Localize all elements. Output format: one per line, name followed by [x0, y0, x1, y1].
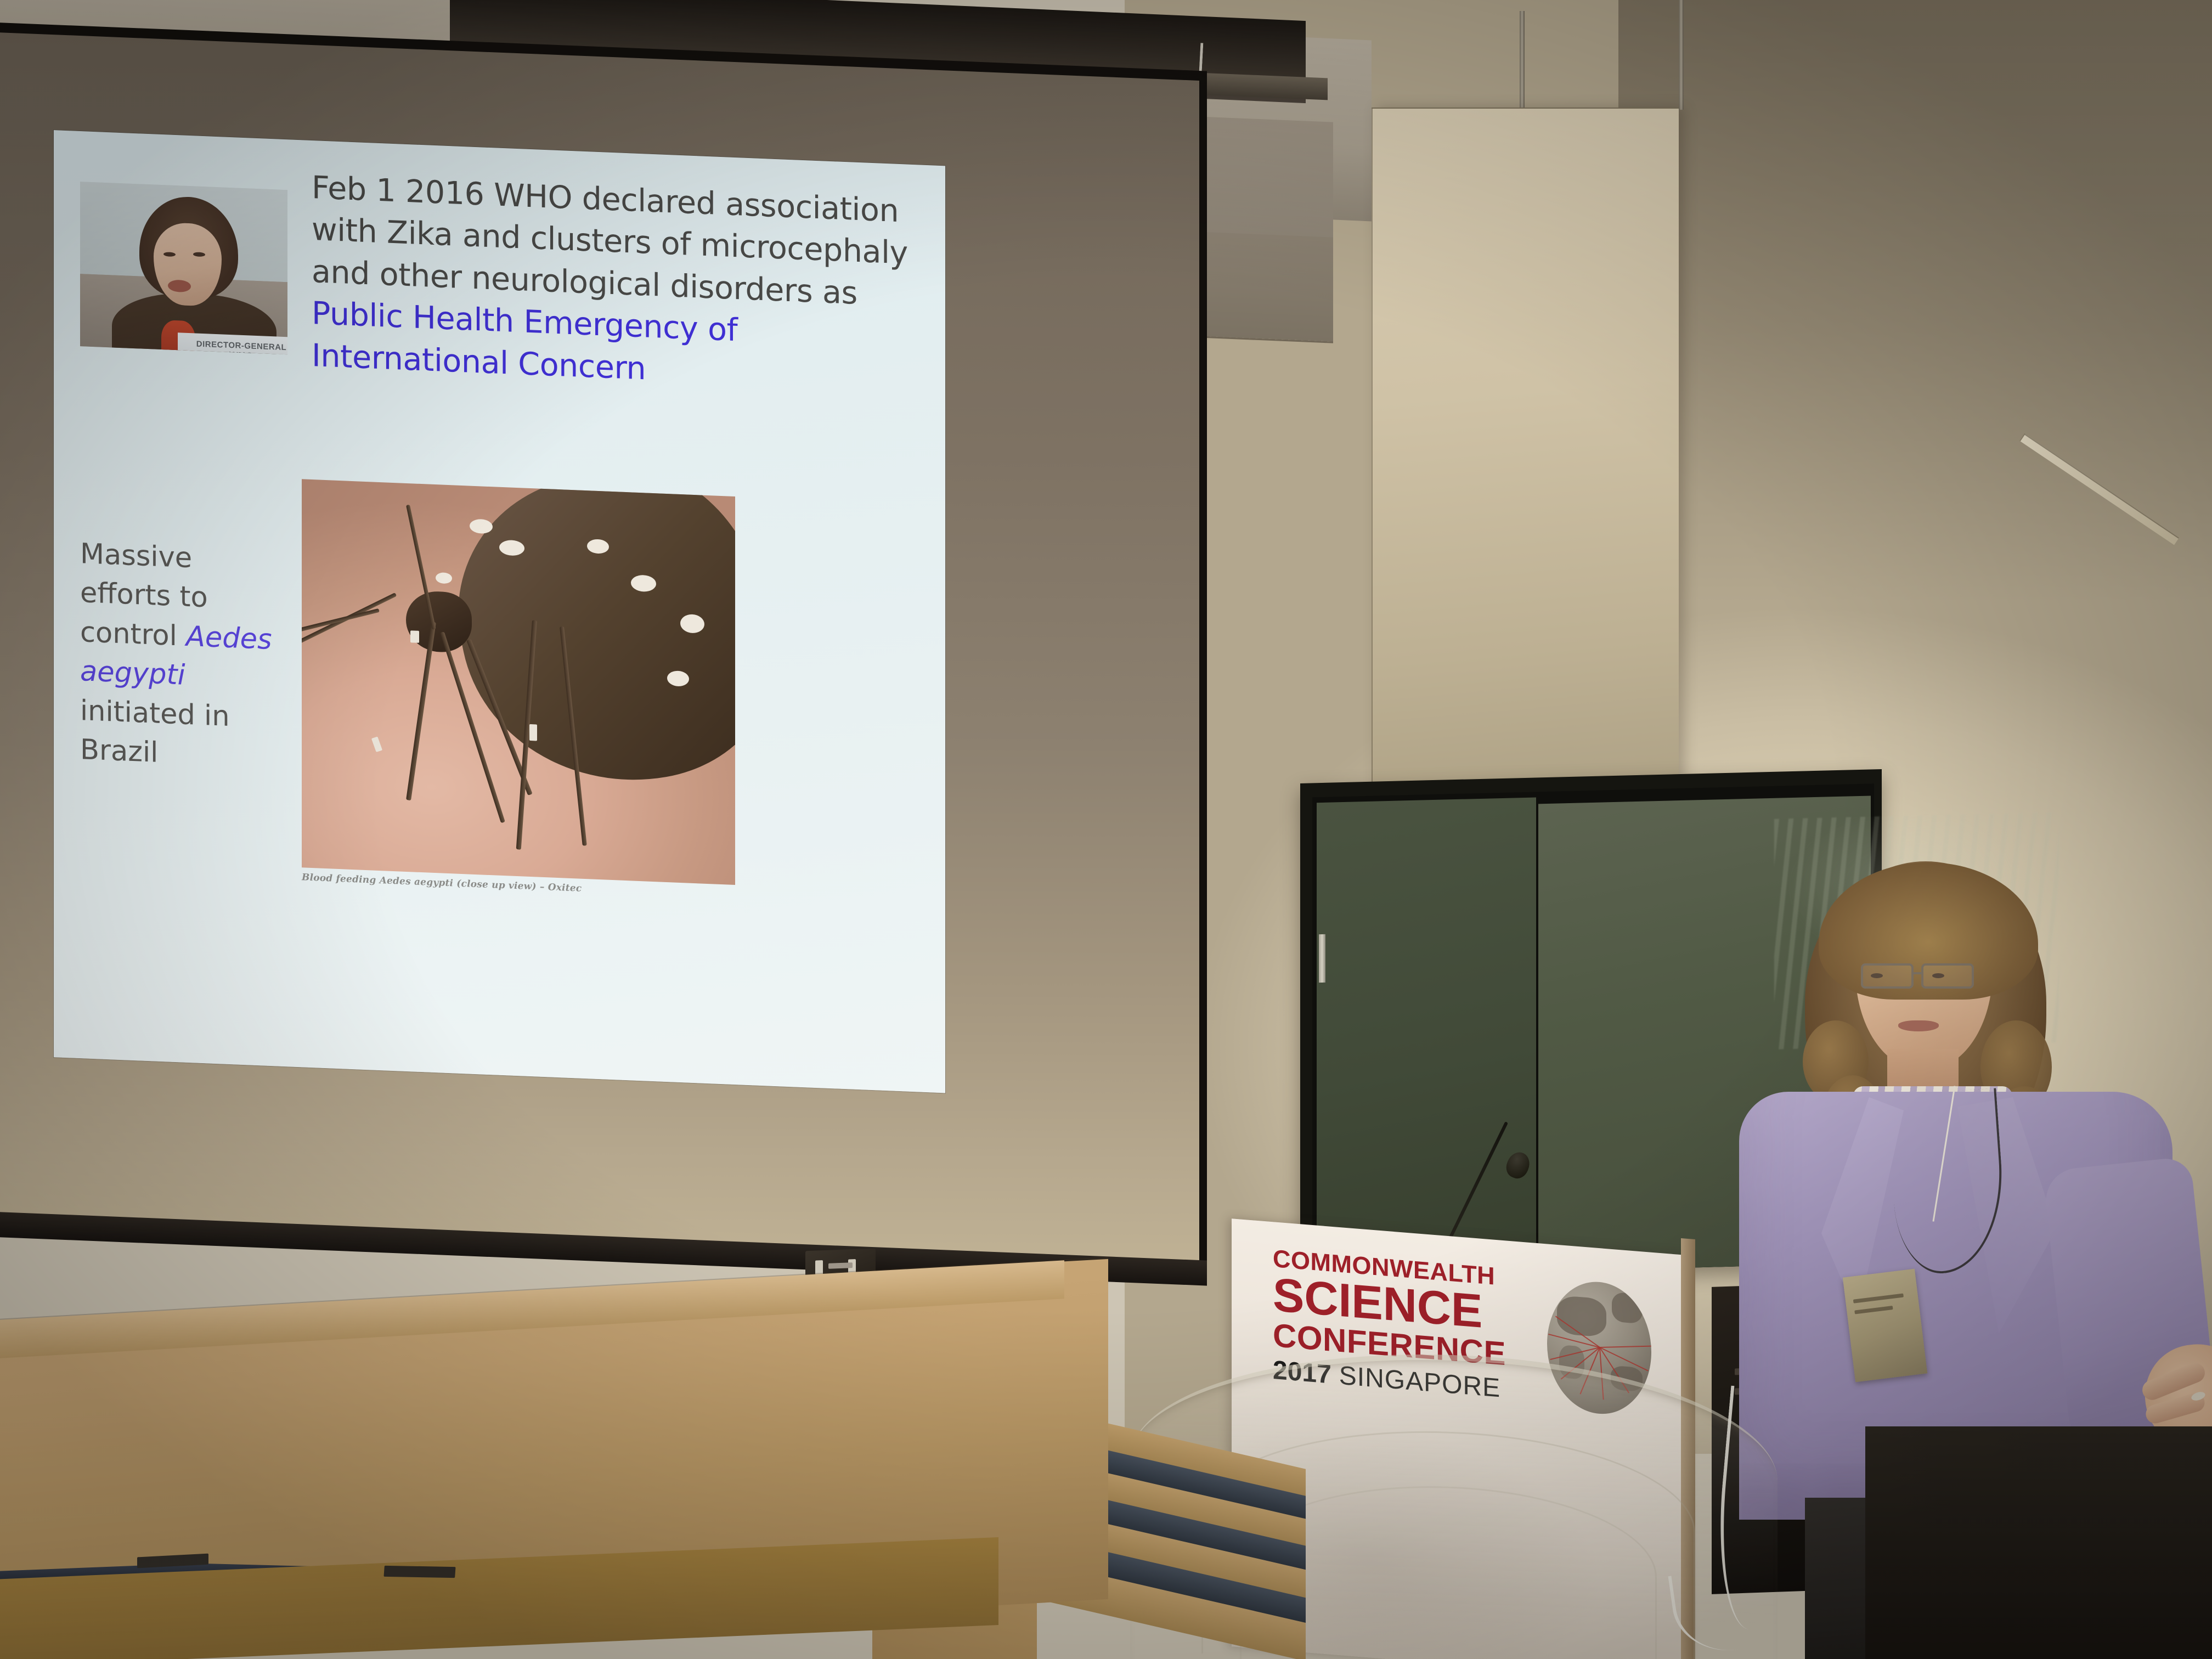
slide-left-suffix: initiated in Brazil	[80, 695, 230, 769]
speaker-mouth	[1898, 1020, 1939, 1031]
projection-screen: DIRECTOR-GENERAL WHO Feb 1 2016 WHO decl…	[0, 22, 1207, 1267]
panel-hanger-rod-left	[1520, 11, 1525, 114]
nameplate: DIRECTOR-GENERAL WHO	[178, 332, 287, 354]
wall-shadow	[1618, 0, 2212, 603]
panel-hanger-rod-right	[1679, 0, 1684, 110]
who-director-general-photo: DIRECTOR-GENERAL WHO	[80, 182, 287, 354]
chalkboard-hinge-left	[1319, 934, 1325, 983]
conference-photo-scene: DIRECTOR-GENERAL WHO Feb 1 2016 WHO decl…	[0, 0, 2212, 1659]
projected-slide: DIRECTOR-GENERAL WHO Feb 1 2016 WHO decl…	[54, 130, 945, 1093]
mosquito-photo	[302, 479, 735, 885]
glasses-bridge	[1914, 972, 1923, 974]
hanging-acoustic-panel	[1372, 108, 1679, 854]
nameplate-line-2: WHO	[229, 351, 254, 354]
slide-top-paragraph: Feb 1 2016 WHO declared association with…	[312, 167, 926, 401]
glasses-icon-left-lens	[1861, 963, 1914, 989]
mosquito-figure: Blood feeding Aedes aegypti (close up vi…	[302, 479, 735, 885]
chalkboard-left-leaf	[1317, 797, 1536, 1277]
slide-top-plain: Feb 1 2016 WHO declared association with…	[312, 170, 908, 312]
slide-top-highlight: Public Health Emergency of International…	[312, 295, 737, 387]
dark-floor-area	[1865, 1426, 2212, 1659]
conference-badge	[1843, 1269, 1927, 1383]
glasses-icon-right-lens	[1921, 963, 1974, 989]
slide-left-paragraph: Massive efforts to control Aedes aegypti…	[80, 534, 278, 777]
desk-bracket-right	[383, 1566, 455, 1578]
